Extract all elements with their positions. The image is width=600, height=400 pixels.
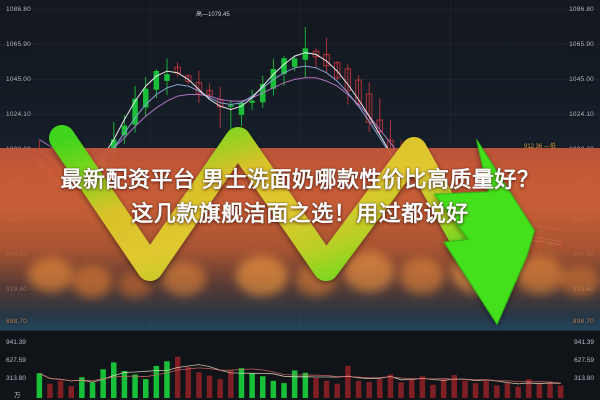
volume-y-label-right: 627.59 [574,357,594,364]
volume-y-label-right: 941.39 [574,339,594,346]
volume-y-label-left: 627.59 [6,357,26,364]
volume-y-label-left: 941.39 [6,339,26,346]
volume-unit-label: 万 [14,389,21,399]
headline-line-2: 这几款旗舰洁面之选！用过都说好 [0,200,600,228]
volume-y-label-left: 313.80 [6,375,26,382]
headline-line-1: 最新配资平台 男士洗面奶哪款性价比高质量好？ [0,166,600,194]
volume-y-label-right: 313.80 [574,375,594,382]
chart-screenshot: 1086.80 1065.90 1045.00 1024.10 1003.20 … [0,0,600,400]
